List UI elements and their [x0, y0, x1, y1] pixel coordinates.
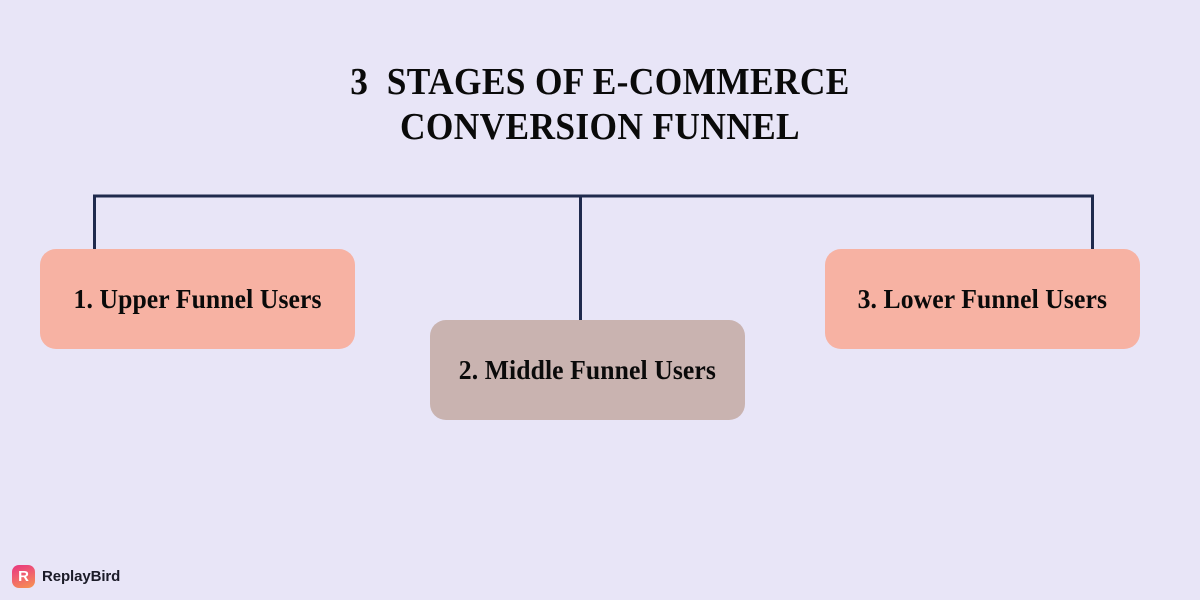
stage-label-upper-funnel: 1. Upper Funnel Users: [73, 284, 321, 315]
stage-label-middle-funnel: 2. Middle Funnel Users: [459, 355, 716, 386]
title-line-2: CONVERSION FUNNEL: [42, 105, 1158, 150]
stage-box-lower-funnel[interactable]: 3. Lower Funnel Users: [825, 249, 1140, 349]
stage-box-upper-funnel[interactable]: 1. Upper Funnel Users: [40, 249, 355, 349]
logo-mark-letter: R: [18, 569, 29, 584]
logo-wordmark: ReplayBird: [42, 568, 120, 585]
stage-box-middle-funnel[interactable]: 2. Middle Funnel Users: [430, 320, 745, 420]
infographic-canvas: 3 STAGES OF E-COMMERCE CONVERSION FUNNEL…: [0, 0, 1200, 600]
replaybird-logo-icon: R: [12, 565, 35, 588]
replaybird-logo[interactable]: R ReplayBird: [12, 565, 120, 588]
stage-label-lower-funnel: 3. Lower Funnel Users: [858, 284, 1107, 315]
page-title: 3 STAGES OF E-COMMERCE CONVERSION FUNNEL: [42, 60, 1158, 150]
title-line-1: 3 STAGES OF E-COMMERCE: [42, 60, 1158, 105]
